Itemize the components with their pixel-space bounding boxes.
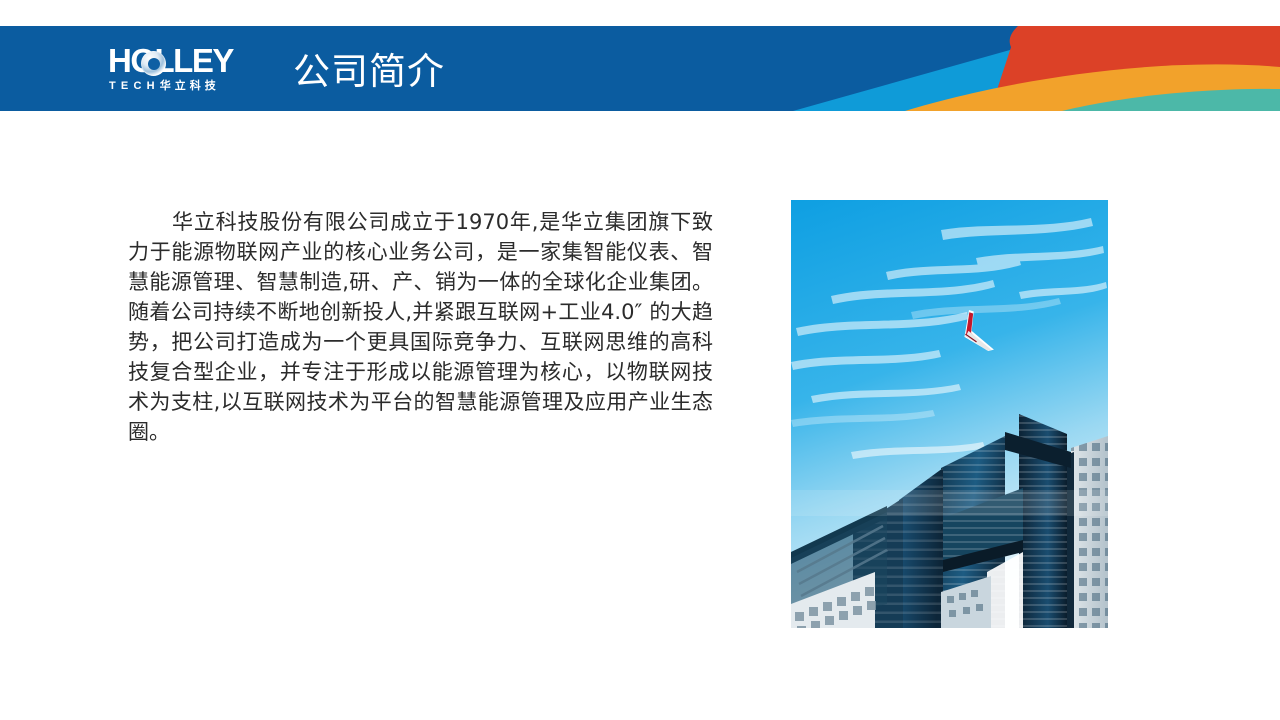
photo-illustration [791,200,1108,628]
company-intro-paragraph: 华立科技股份有限公司成立于1970年,是华立集团旗下致力于能源物联网产业的核心业… [128,207,713,447]
logo-subtitle: TECH华立科技 [109,79,220,93]
logo-mark: HOLLEY [108,46,268,80]
city-skyscrapers-photo [791,200,1108,628]
slide-header: HOLLEY TECH华立科技 公司简介 [0,26,1280,111]
holley-ring-icon [141,51,166,76]
holley-logo: HOLLEY TECH华立科技 [0,46,160,98]
slide-root: HOLLEY TECH华立科技 公司简介 华立科技股份有限公司成立于1970年,… [0,0,1280,720]
logo-sub-en: TECH [109,80,160,92]
logo-sub-cn: 华立科技 [160,80,220,92]
page-title: 公司简介 [293,48,445,96]
logo-wordmark: HOLLEY [108,44,233,78]
